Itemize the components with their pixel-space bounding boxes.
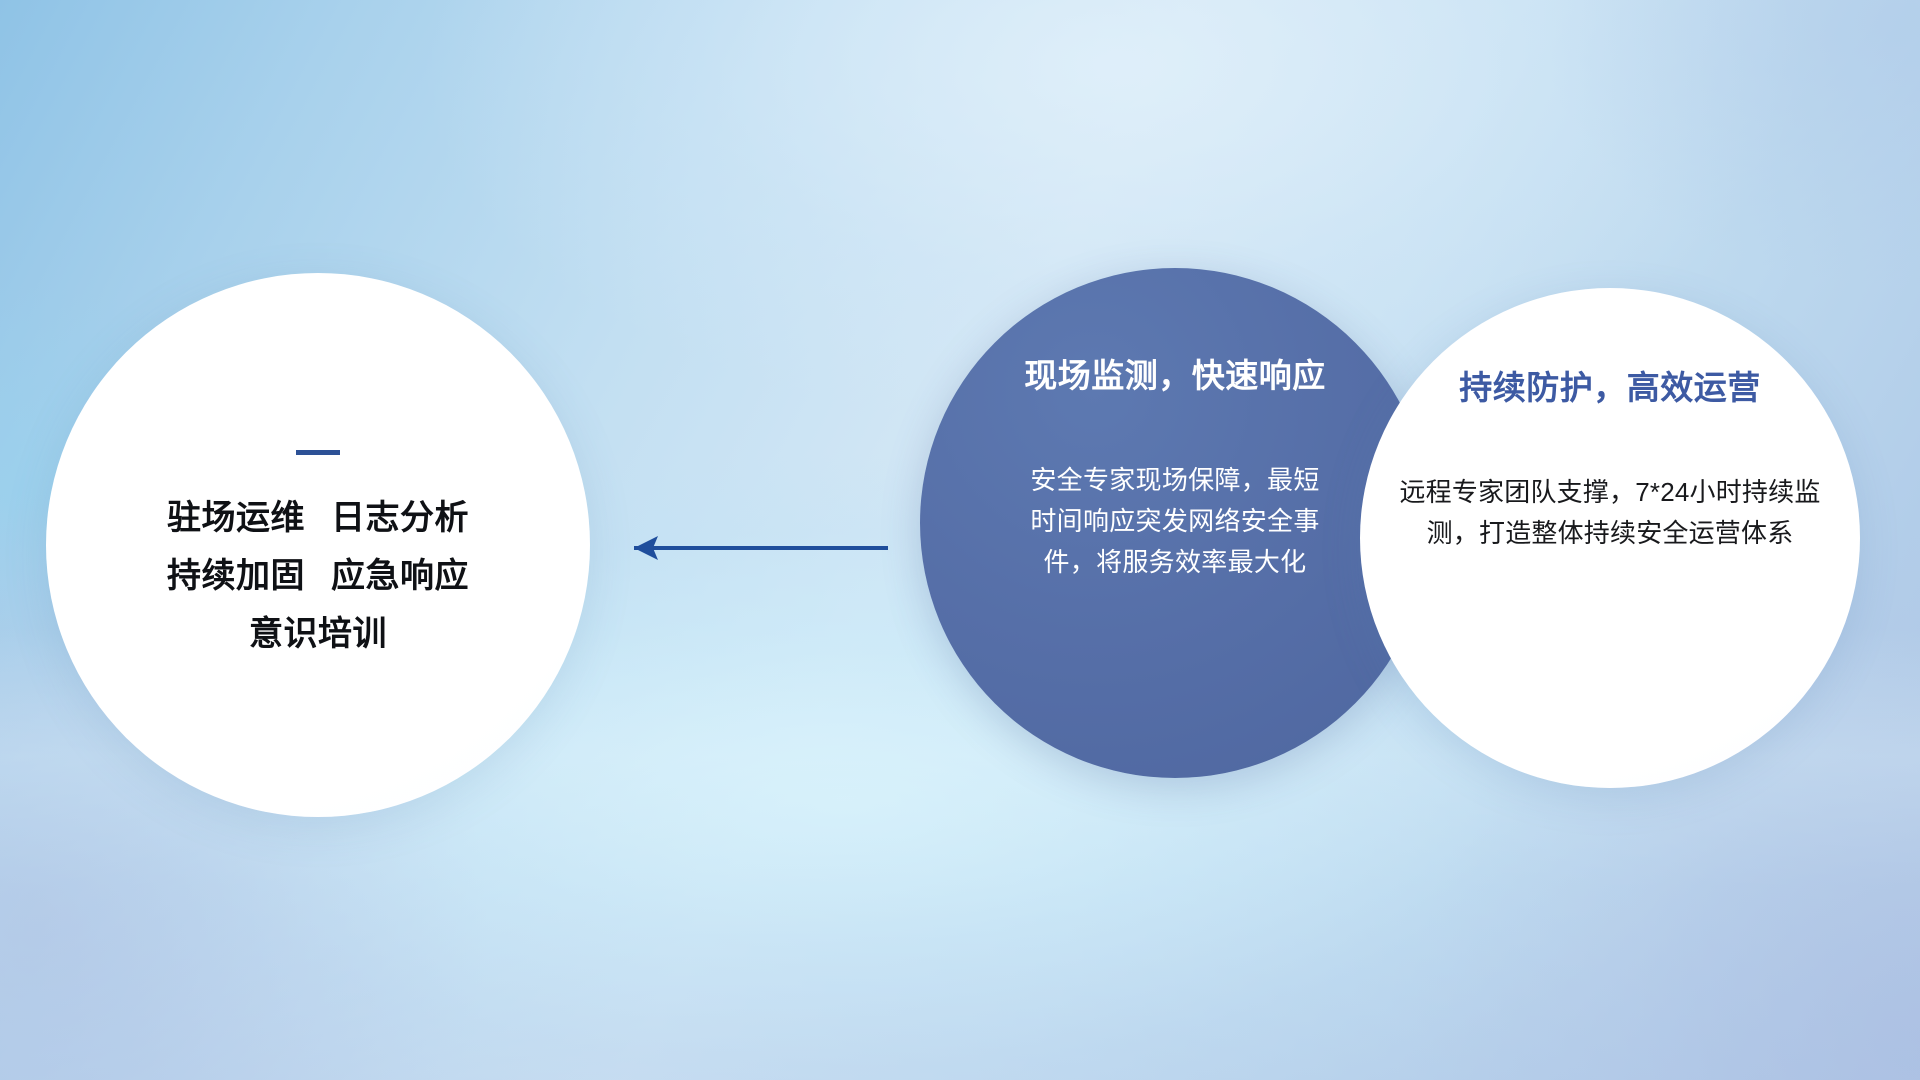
capability-circle-onsite[interactable]: 现场监测，快速响应 安全专家现场保障，最短时间响应突发网络安全事件，将服务效率最… [920, 268, 1430, 778]
services-keyword: 应急响应 [331, 557, 469, 595]
services-keyword: 持续加固 [167, 557, 305, 595]
capability-circle-services[interactable]: 驻场运维日志分析 持续加固应急响应 意识培训 [46, 273, 590, 817]
remote-description: 远程专家团队支撑，7*24小时持续监测，打造整体持续安全运营体系 [1398, 472, 1822, 554]
services-keyword-row-single: 意识培训 [249, 617, 387, 651]
services-keyword: 日志分析 [331, 499, 469, 537]
capability-circle-remote[interactable]: 持续防护，高效运营 远程专家团队支撑，7*24小时持续监测，打造整体持续安全运营… [1360, 288, 1860, 788]
services-keyword: 驻场运维 [167, 499, 305, 537]
slide-canvas: 驻场运维日志分析 持续加固应急响应 意识培训 现场监测，快速响应 安全专家现场保… [0, 0, 1920, 1080]
flow-arrow [612, 533, 890, 563]
onsite-circle-content: 现场监测，快速响应 安全专家现场保障，最短时间响应突发网络安全事件，将服务效率最… [920, 268, 1430, 778]
services-keyword-row: 持续加固应急响应 [167, 559, 469, 593]
services-circle-content: 驻场运维日志分析 持续加固应急响应 意识培训 [46, 273, 590, 817]
services-keyword-list: 驻场运维日志分析 持续加固应急响应 意识培训 [167, 501, 469, 651]
remote-title: 持续防护，高效运营 [1459, 370, 1761, 406]
onsite-title: 现场监测，快速响应 [1024, 358, 1326, 394]
divider-dash [296, 450, 340, 455]
onsite-description: 安全专家现场保障，最短时间响应突发网络安全事件，将服务效率最大化 [1025, 460, 1325, 583]
remote-circle-content: 持续防护，高效运营 远程专家团队支撑，7*24小时持续监测，打造整体持续安全运营… [1360, 288, 1860, 788]
services-keyword-row: 驻场运维日志分析 [167, 501, 469, 535]
